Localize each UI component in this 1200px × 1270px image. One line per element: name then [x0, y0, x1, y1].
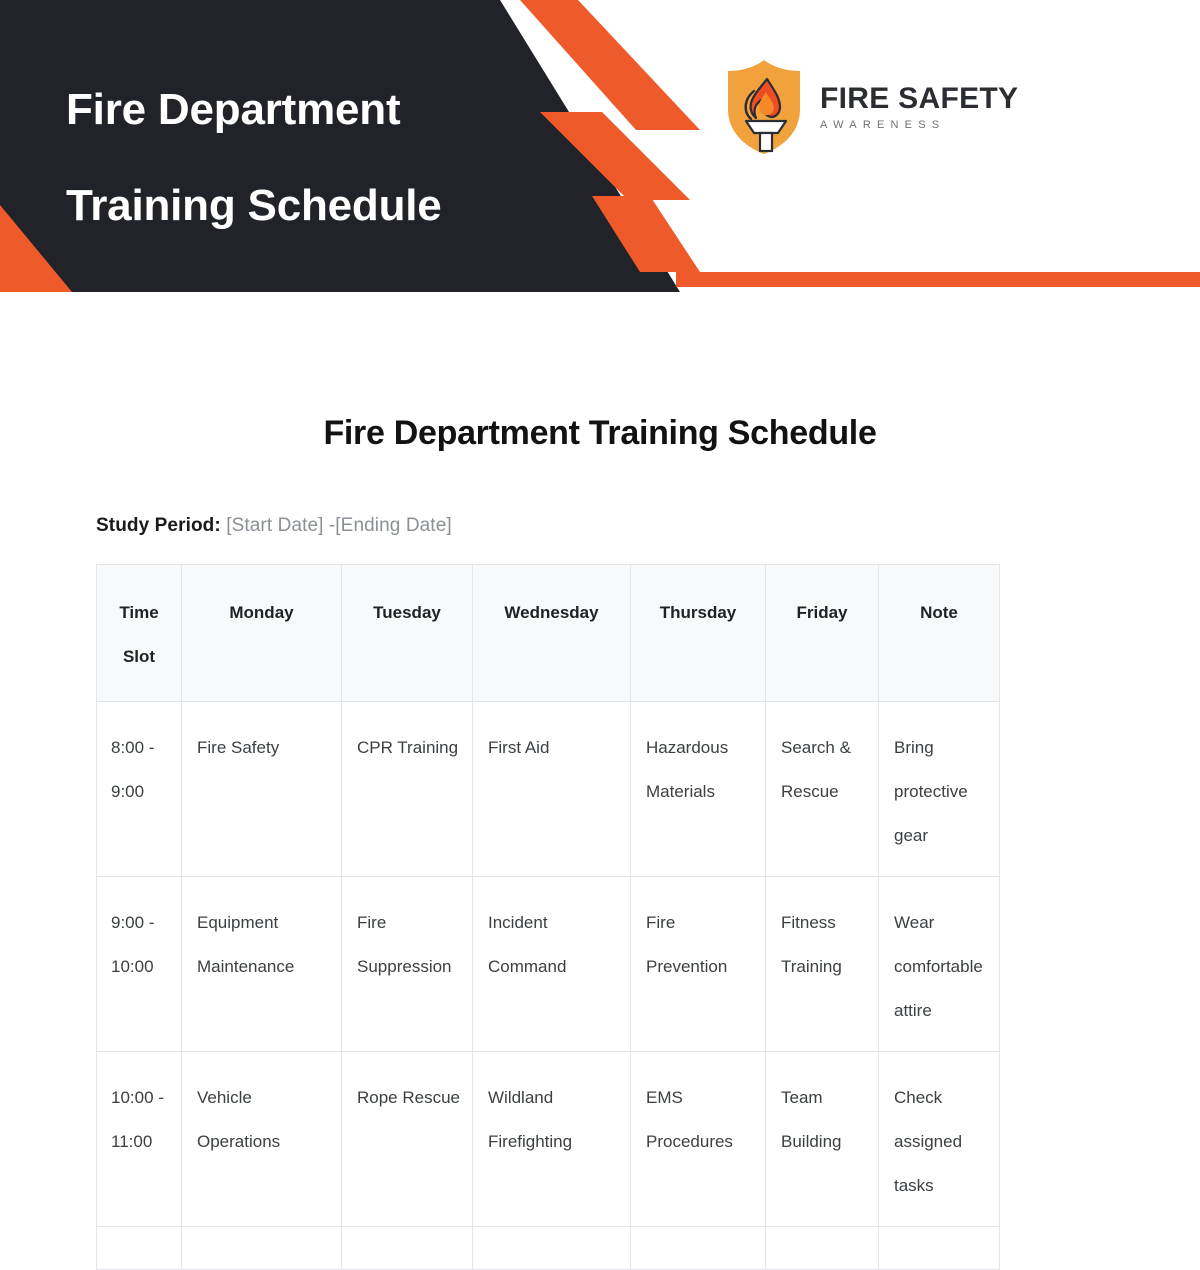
cell-monday: Vehicle Operations [182, 1052, 342, 1227]
table-row [97, 1227, 1000, 1270]
study-period-value: [Start Date] -[Ending Date] [226, 515, 452, 536]
cell-note: Check assigned tasks [879, 1052, 1000, 1227]
cell-wednesday: Wildland Firefighting [473, 1052, 631, 1227]
cell-wednesday: Incident Command [473, 877, 631, 1052]
cell-friday: Fitness Training [766, 877, 879, 1052]
table-row: 8:00 - 9:00 Fire Safety CPR Training Fir… [97, 702, 1000, 877]
banner-orange-horizontal-bar [676, 272, 1200, 287]
cell-time-slot: 10:00 - 11:00 [97, 1052, 182, 1227]
document-title: Fire Department Training Schedule [0, 292, 1200, 453]
cell-wednesday [473, 1227, 631, 1270]
banner-title: Fire Department Training Schedule [66, 62, 546, 254]
cell-tuesday: Fire Suppression [342, 877, 473, 1052]
study-period-line: Study Period: [Start Date] -[Ending Date… [96, 515, 1200, 537]
shield-torch-icon [722, 57, 806, 157]
table-row: 10:00 - 11:00 Vehicle Operations Rope Re… [97, 1052, 1000, 1227]
cell-wednesday: First Aid [473, 702, 631, 877]
cell-time-slot: 8:00 - 9:00 [97, 702, 182, 877]
cell-note: Bring protective gear [879, 702, 1000, 877]
cell-time-slot [97, 1227, 182, 1270]
cell-monday: Equipment Maintenance [182, 877, 342, 1052]
column-header-friday: Friday [766, 565, 879, 702]
logo-text-secondary: AWARENESS [820, 120, 1018, 131]
cell-monday [182, 1227, 342, 1270]
cell-thursday: EMS Procedures [631, 1052, 766, 1227]
schedule-table-container: Time Slot Monday Tuesday Wednesday Thurs… [96, 564, 999, 1270]
cell-monday: Fire Safety [182, 702, 342, 877]
table-header-row: Time Slot Monday Tuesday Wednesday Thurs… [97, 565, 1000, 702]
logo-text-primary: FIRE SAFETY [820, 83, 1018, 115]
brand-logo: FIRE SAFETY AWARENESS [722, 52, 1022, 162]
study-period-label: Study Period: [96, 515, 221, 536]
table-row: 9:00 - 10:00 Equipment Maintenance Fire … [97, 877, 1000, 1052]
cell-time-slot: 9:00 - 10:00 [97, 877, 182, 1052]
column-header-time-slot: Time Slot [97, 565, 182, 702]
column-header-wednesday: Wednesday [473, 565, 631, 702]
cell-note: Wear comfortable attire [879, 877, 1000, 1052]
cell-thursday [631, 1227, 766, 1270]
cell-note [879, 1227, 1000, 1270]
document-body: Fire Department Training Schedule Study … [0, 292, 1200, 1270]
cell-tuesday [342, 1227, 473, 1270]
cell-thursday: Hazardous Materials [631, 702, 766, 877]
column-header-monday: Monday [182, 565, 342, 702]
cell-tuesday: CPR Training [342, 702, 473, 877]
cell-friday [766, 1227, 879, 1270]
page-header-banner: Fire Department Training Schedule FIRE S… [0, 0, 1200, 292]
column-header-tuesday: Tuesday [342, 565, 473, 702]
cell-friday: Search & Rescue [766, 702, 879, 877]
column-header-thursday: Thursday [631, 565, 766, 702]
cell-thursday: Fire Prevention [631, 877, 766, 1052]
training-schedule-table: Time Slot Monday Tuesday Wednesday Thurs… [96, 564, 1000, 1270]
cell-friday: Team Building [766, 1052, 879, 1227]
cell-tuesday: Rope Rescue [342, 1052, 473, 1227]
column-header-note: Note [879, 565, 1000, 702]
